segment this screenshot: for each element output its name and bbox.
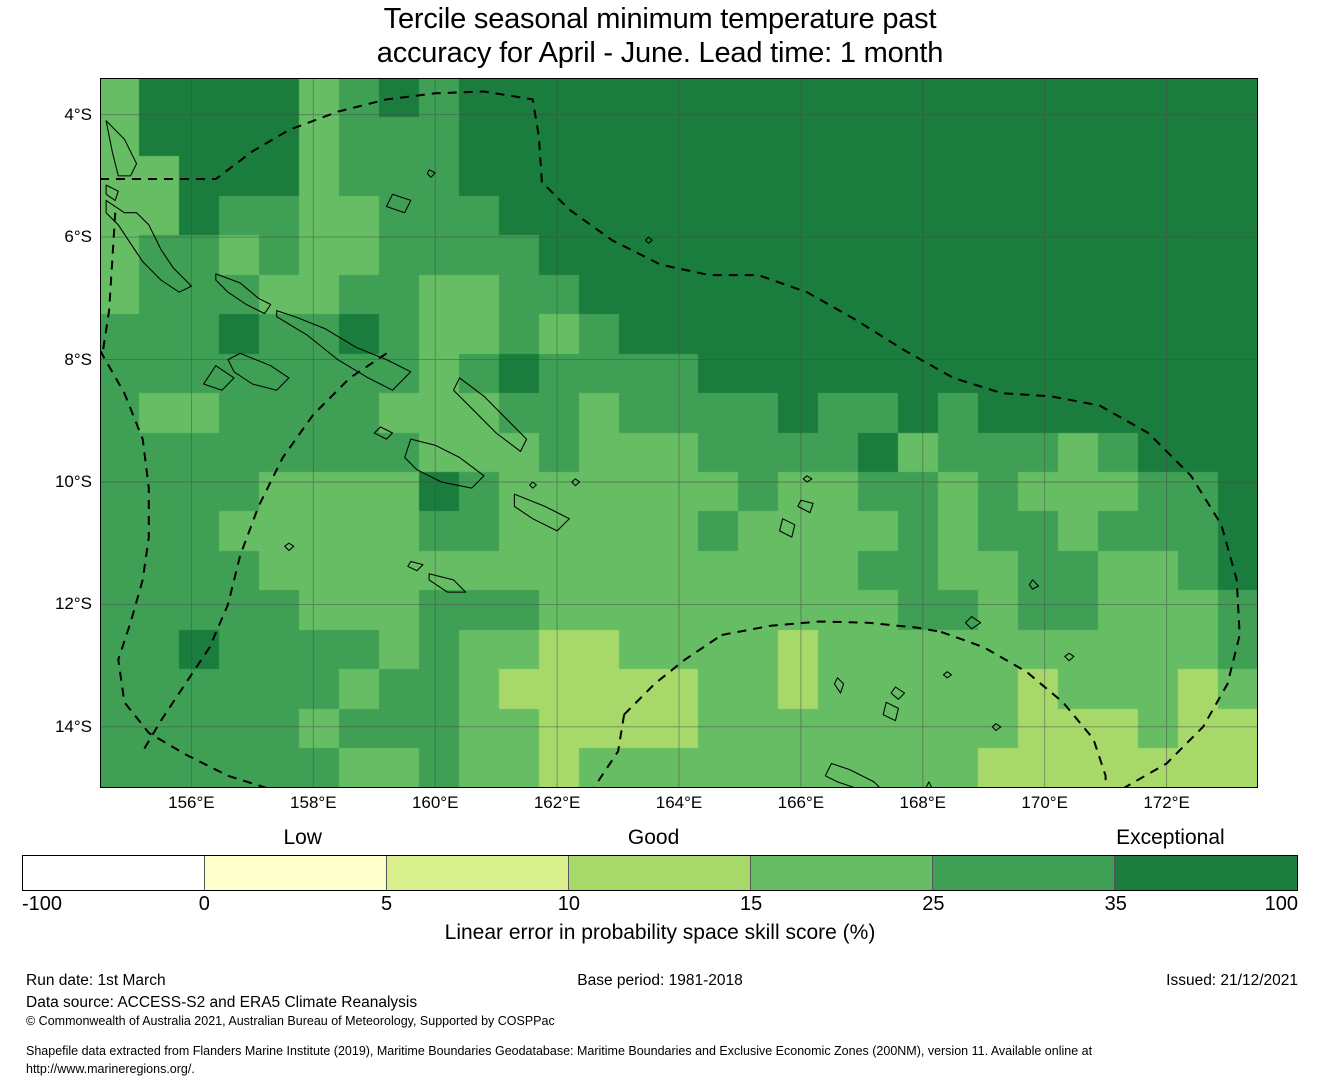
y-axis-tick-label: 12°S xyxy=(55,594,92,614)
y-axis-tick-label: 10°S xyxy=(55,472,92,492)
colorbar-segment xyxy=(1115,856,1297,890)
colorbar-tick-labels: -1000510152535100 xyxy=(0,893,1320,919)
y-axis-tick-label: 8°S xyxy=(64,350,92,370)
footer-copyright: © Commonwealth of Australia 2021, Austra… xyxy=(26,1014,555,1028)
chart-page: Tercile seasonal minimum temperature pas… xyxy=(0,0,1320,1080)
chart-title-line2: accuracy for April - June. Lead time: 1 … xyxy=(0,36,1320,70)
chart-title: Tercile seasonal minimum temperature pas… xyxy=(0,2,1320,70)
colorbar-tick-label: -100 xyxy=(22,893,62,916)
footer-issued: Issued: 21/12/2021 xyxy=(1166,972,1298,990)
y-axis-tick-label: 6°S xyxy=(64,227,92,247)
colorbar-segment xyxy=(23,856,205,890)
colorbar-segment xyxy=(751,856,933,890)
colorbar-category-labels: LowGoodExceptional xyxy=(0,826,1320,852)
colorbar-tick-label: 15 xyxy=(740,893,762,916)
x-axis-tick-label: 172°E xyxy=(1143,793,1190,813)
colorbar-tick-label: 0 xyxy=(199,893,210,916)
x-axis-tick-label: 170°E xyxy=(1021,793,1068,813)
x-axis-tick-label: 160°E xyxy=(412,793,459,813)
colorbar-tick-label: 35 xyxy=(1105,893,1127,916)
colorbar-axis-label: Linear error in probability space skill … xyxy=(0,921,1320,945)
colorbar-category-exceptional: Exceptional xyxy=(1116,826,1225,850)
x-axis-tick-label: 164°E xyxy=(656,793,703,813)
x-axis-tick-label: 166°E xyxy=(778,793,825,813)
colorbar-tick-label: 5 xyxy=(381,893,392,916)
colorbar-segment xyxy=(387,856,569,890)
colorbar-segment xyxy=(205,856,387,890)
colorbar-tick-label: 10 xyxy=(558,893,580,916)
x-axis-tick-label: 168°E xyxy=(900,793,947,813)
y-axis-tick-label: 4°S xyxy=(64,105,92,125)
x-axis-tick-label: 156°E xyxy=(168,793,215,813)
y-axis-tick-label: 14°S xyxy=(55,717,92,737)
footer-shapefile-line1: Shapefile data extracted from Flanders M… xyxy=(26,1044,1092,1058)
x-axis-tick-label: 162°E xyxy=(534,793,581,813)
colorbar-category-good: Good xyxy=(628,826,679,850)
colorbar-segment xyxy=(933,856,1115,890)
eez-boundary-dashed xyxy=(100,92,1240,789)
colorbar-tick-label: 100 xyxy=(1265,893,1298,916)
coastline-paths xyxy=(106,121,1074,788)
footer-shapefile-line2: http://www.marineregions.org/. xyxy=(26,1062,195,1076)
footer: Run date: 1st March Base period: 1981-20… xyxy=(0,972,1320,1080)
map-plot-area xyxy=(100,78,1258,788)
footer-data-source: Data source: ACCESS-S2 and ERA5 Climate … xyxy=(26,994,417,1012)
colorbar xyxy=(22,855,1298,891)
colorbar-category-low: Low xyxy=(283,826,322,850)
map-overlays xyxy=(100,78,1258,788)
map-gridlines xyxy=(100,78,1258,788)
colorbar-segment xyxy=(569,856,751,890)
x-axis-tick-label: 158°E xyxy=(290,793,337,813)
footer-base-period: Base period: 1981-2018 xyxy=(0,972,1320,990)
colorbar-tick-label: 25 xyxy=(922,893,944,916)
chart-title-line1: Tercile seasonal minimum temperature pas… xyxy=(0,2,1320,36)
